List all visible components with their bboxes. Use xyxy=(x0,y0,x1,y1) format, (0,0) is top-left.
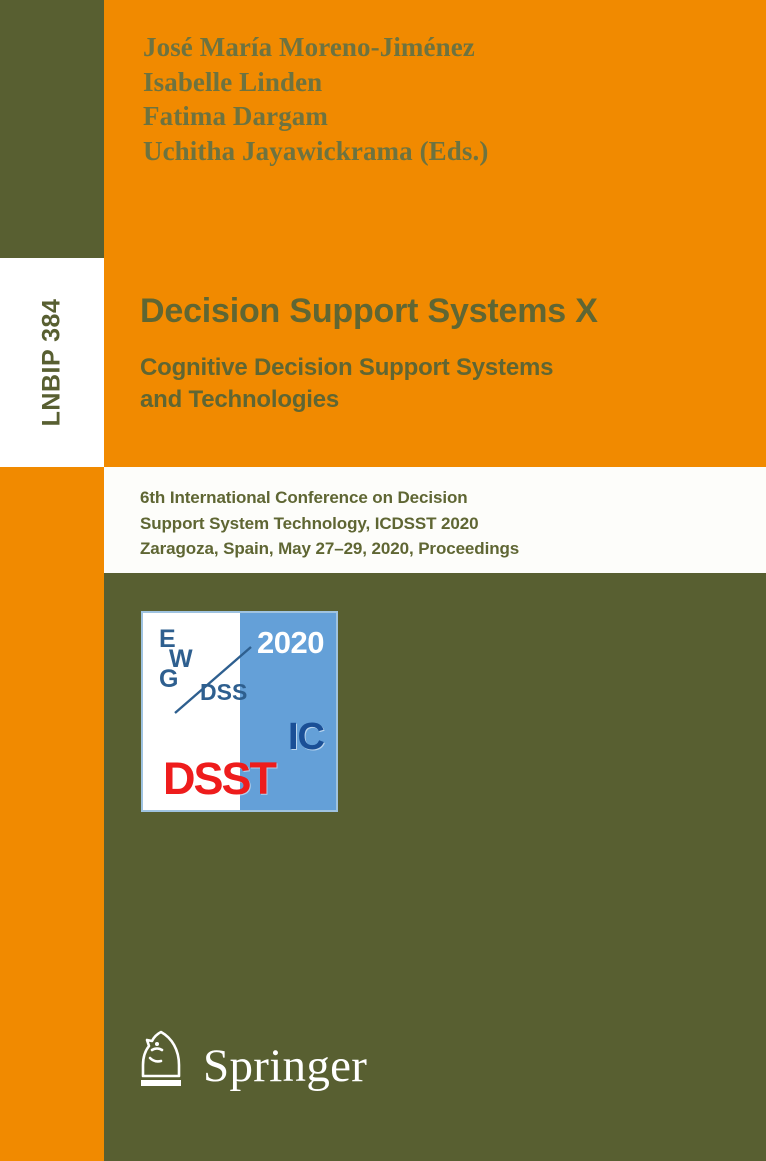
logo-ic-text: IC xyxy=(288,716,324,759)
editor-name: Isabelle Linden xyxy=(143,65,703,100)
editor-name: José María Moreno-Jiménez xyxy=(143,30,703,65)
logo-dss-text: DSS xyxy=(200,679,247,706)
conference-details: 6th International Conference on Decision… xyxy=(140,485,740,562)
title-block: Decision Support Systems X Cognitive Dec… xyxy=(140,292,740,415)
conference-line-3: Zaragoza, Spain, May 27–29, 2020, Procee… xyxy=(140,536,740,562)
background-block-orange-left-column xyxy=(0,467,104,1161)
book-cover: LNBIP 384 José María Moreno-Jiménez Isab… xyxy=(0,0,766,1161)
publisher-logo: Springer xyxy=(137,1028,367,1094)
icdsst-conference-logo: E W G DSS 2020 IC DSST xyxy=(141,611,338,812)
editor-name: Fatima Dargam xyxy=(143,99,703,134)
book-subtitle-line-1: Cognitive Decision Support Systems xyxy=(140,352,740,384)
editors-list: José María Moreno-Jiménez Isabelle Linde… xyxy=(143,30,703,168)
series-spine-label: LNBIP 384 xyxy=(0,258,104,467)
logo-dsst-text: DSST xyxy=(163,753,275,805)
series-spine-text: LNBIP 384 xyxy=(38,299,67,427)
editor-name: Uchitha Jayawickrama (Eds.) xyxy=(143,134,703,169)
springer-wordmark: Springer xyxy=(203,1043,367,1094)
book-title: Decision Support Systems X xyxy=(140,292,740,330)
conference-line-2: Support System Technology, ICDSST 2020 xyxy=(140,511,740,537)
book-subtitle-line-2: and Technologies xyxy=(140,384,740,416)
springer-knight-icon xyxy=(137,1028,189,1094)
background-block-olive-top-left xyxy=(0,0,104,258)
logo-year-text: 2020 xyxy=(257,625,324,661)
conference-line-1: 6th International Conference on Decision xyxy=(140,485,740,511)
